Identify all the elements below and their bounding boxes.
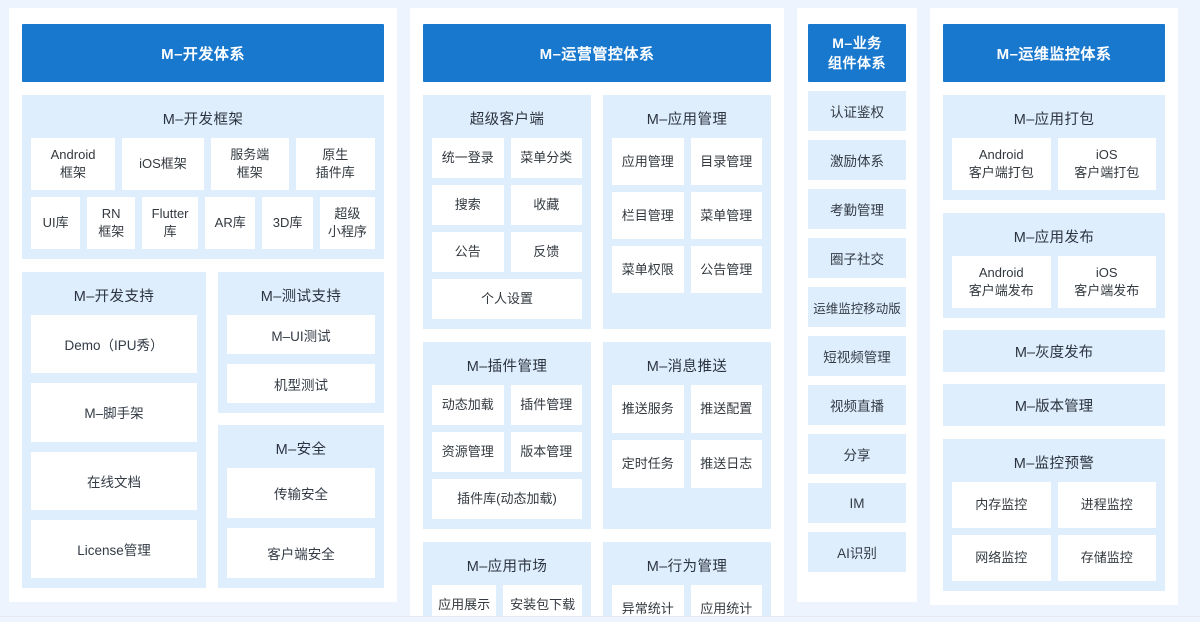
split-ops-row-2: M–插件管理 动态加载 插件管理 资源管理 版本管理 插件库(动态加载) M–消… (423, 342, 771, 529)
tile-menu-permission[interactable]: 菜单权限 (612, 246, 684, 293)
tile-row-super-client-2: 搜索 收藏 (432, 185, 582, 225)
split-ops-row-3: M–应用市场 应用展示 安装包下载 应用管理 应用发布 安装包版本管理 M–行为… (423, 542, 771, 622)
tile-row-framework-2: UI库 RN 框架 Flutter 库 AR库 3D库 超级 小程序 (31, 197, 375, 249)
group-title-dev-framework: M–开发框架 (31, 104, 375, 138)
tile-ios-release[interactable]: iOS 客户端发布 (1058, 256, 1157, 308)
split-support: M–开发支持 Demo（IPU秀） M–脚手架 在线文档 License管理 M… (22, 272, 384, 588)
biz-item-auth[interactable]: 认证鉴权 (808, 91, 906, 131)
group-title-monitor-alert: M–监控预警 (952, 448, 1156, 482)
group-message-push: M–消息推送 推送服务 推送配置 定时任务 推送日志 (603, 342, 771, 529)
tile-super-miniprogram[interactable]: 超级 小程序 (320, 197, 375, 249)
tile-ui-test[interactable]: M–UI测试 (227, 315, 375, 354)
tile-license-mgmt[interactable]: License管理 (31, 520, 197, 578)
column-biz-components: M–业务 组件体系 认证鉴权 激励体系 考勤管理 圈子社交 运维监控移动版 短视… (797, 8, 917, 602)
tile-device-test[interactable]: 机型测试 (227, 364, 375, 403)
tile-storage-monitor[interactable]: 存储监控 (1058, 535, 1157, 581)
group-app-market: M–应用市场 应用展示 安装包下载 应用管理 应用发布 安装包版本管理 (423, 542, 591, 622)
group-title-security: M–安全 (227, 434, 375, 468)
tile-row-app-release: Android 客户端发布 iOS 客户端发布 (952, 256, 1156, 308)
group-app-management: M–应用管理 应用管理 目录管理 栏目管理 菜单管理 菜单权限 公告管理 (603, 95, 771, 329)
column-ops-system: M–运营管控体系 超级客户端 统一登录 菜单分类 搜索 收藏 公告 反馈 个人设… (410, 8, 784, 622)
column-header-dev-system[interactable]: M–开发体系 (22, 24, 384, 82)
tile-row-app-mgmt-3: 菜单权限 公告管理 (612, 246, 762, 293)
tile-row-plugin-1: 动态加载 插件管理 (432, 385, 582, 425)
tile-row-alert-2: 网络监控 存储监控 (952, 535, 1156, 581)
tile-feedback[interactable]: 反馈 (511, 232, 583, 272)
tile-scheduled-task[interactable]: 定时任务 (612, 440, 684, 488)
column-monitor-system: M–运维监控体系 M–应用打包 Android 客户端打包 iOS 客户端打包 … (930, 8, 1178, 605)
tile-ar-lib[interactable]: AR库 (205, 197, 255, 249)
tile-network-monitor[interactable]: 网络监控 (952, 535, 1051, 581)
group-title-behavior-management: M–行为管理 (612, 551, 762, 585)
stack-test-security: M–测试支持 M–UI测试 机型测试 M–安全 传输安全 客户端安全 (218, 272, 384, 588)
column-header-ops-system[interactable]: M–运营管控体系 (423, 24, 771, 82)
group-version-management[interactable]: M–版本管理 (943, 384, 1165, 426)
biz-item-social-circle[interactable]: 圈子社交 (808, 238, 906, 278)
tile-scaffold[interactable]: M–脚手架 (31, 383, 197, 441)
tile-demo-ipu[interactable]: Demo（IPU秀） (31, 315, 197, 373)
tile-push-config[interactable]: 推送配置 (691, 385, 763, 433)
group-title-app-release: M–应用发布 (952, 222, 1156, 256)
biz-item-live-video[interactable]: 视频直播 (808, 385, 906, 425)
tile-ios-framework[interactable]: iOS框架 (122, 138, 204, 190)
tile-online-docs[interactable]: 在线文档 (31, 452, 197, 510)
group-title-app-market: M–应用市场 (432, 551, 582, 585)
tile-row-push-1: 推送服务 推送配置 (612, 385, 762, 433)
tile-search[interactable]: 搜索 (432, 185, 504, 225)
tile-favorites[interactable]: 收藏 (511, 185, 583, 225)
tile-push-service[interactable]: 推送服务 (612, 385, 684, 433)
tile-ios-package[interactable]: iOS 客户端打包 (1058, 138, 1157, 190)
group-title-message-push: M–消息推送 (612, 351, 762, 385)
tile-column-manage[interactable]: 栏目管理 (612, 192, 684, 239)
tile-rn-framework[interactable]: RN 框架 (87, 197, 135, 249)
tile-row-plugin-3: 插件库(动态加载) (432, 479, 582, 519)
column-dev-system: M–开发体系 M–开发框架 Android 框架 iOS框架 服务端 框架 原生… (9, 8, 397, 602)
tile-app-manage[interactable]: 应用管理 (612, 138, 684, 185)
group-dev-framework: M–开发框架 Android 框架 iOS框架 服务端 框架 原生 插件库 UI… (22, 95, 384, 259)
tile-native-plugin-lib[interactable]: 原生 插件库 (296, 138, 375, 190)
tile-announcement-manage[interactable]: 公告管理 (691, 246, 763, 293)
column-header-biz-components[interactable]: M–业务 组件体系 (808, 24, 906, 82)
tile-row-super-client-3: 公告 反馈 (432, 232, 582, 272)
group-title-test-support: M–测试支持 (227, 281, 375, 315)
tile-menu-manage[interactable]: 菜单管理 (691, 192, 763, 239)
group-dev-support: M–开发支持 Demo（IPU秀） M–脚手架 在线文档 License管理 (22, 272, 206, 588)
biz-item-attendance[interactable]: 考勤管理 (808, 189, 906, 229)
group-test-support: M–测试支持 M–UI测试 机型测试 (218, 272, 384, 413)
tile-android-package[interactable]: Android 客户端打包 (952, 138, 1051, 190)
tile-row-plugin-2: 资源管理 版本管理 (432, 432, 582, 472)
split-ops-row-1: 超级客户端 统一登录 菜单分类 搜索 收藏 公告 反馈 个人设置 M– (423, 95, 771, 329)
group-plugin-management: M–插件管理 动态加载 插件管理 资源管理 版本管理 插件库(动态加载) (423, 342, 591, 529)
tile-resource-manage[interactable]: 资源管理 (432, 432, 504, 472)
group-security: M–安全 传输安全 客户端安全 (218, 425, 384, 588)
group-title-app-management: M–应用管理 (612, 104, 762, 138)
tile-row-app-mgmt-1: 应用管理 目录管理 (612, 138, 762, 185)
tile-plugin-manage[interactable]: 插件管理 (511, 385, 583, 425)
bottom-divider (0, 616, 1200, 622)
column-header-biz-line2: 组件体系 (828, 53, 886, 73)
tile-row-alert-1: 内存监控 进程监控 (952, 482, 1156, 528)
tile-transport-security[interactable]: 传输安全 (227, 468, 375, 518)
tile-personal-settings[interactable]: 个人设置 (432, 279, 582, 319)
column-header-biz-line1: M–业务 (832, 33, 881, 53)
tile-process-monitor[interactable]: 进程监控 (1058, 482, 1157, 528)
tile-push-log[interactable]: 推送日志 (691, 440, 763, 488)
group-behavior-management: M–行为管理 异常统计 应用统计 用户统计 业务统计 (603, 542, 771, 622)
tile-row-push-2: 定时任务 推送日志 (612, 440, 762, 488)
tile-row-super-client-4: 个人设置 (432, 279, 582, 319)
tile-row-super-client-1: 统一登录 菜单分类 (432, 138, 582, 178)
tile-client-security[interactable]: 客户端安全 (227, 528, 375, 578)
tile-plugin-library[interactable]: 插件库(动态加载) (432, 479, 582, 519)
tile-row-app-package: Android 客户端打包 iOS 客户端打包 (952, 138, 1156, 190)
group-title-super-client: 超级客户端 (432, 104, 582, 138)
tile-unified-login[interactable]: 统一登录 (432, 138, 504, 178)
group-monitor-alert: M–监控预警 内存监控 进程监控 网络监控 存储监控 (943, 439, 1165, 591)
tile-android-release[interactable]: Android 客户端发布 (952, 256, 1051, 308)
tile-android-framework[interactable]: Android 框架 (31, 138, 115, 190)
tile-catalog-manage[interactable]: 目录管理 (691, 138, 763, 185)
tile-announcement[interactable]: 公告 (432, 232, 504, 272)
tile-server-framework[interactable]: 服务端 框架 (211, 138, 289, 190)
group-title-app-package: M–应用打包 (952, 104, 1156, 138)
biz-item-incentive[interactable]: 激励体系 (808, 140, 906, 180)
group-title-plugin-management: M–插件管理 (432, 351, 582, 385)
tile-row-app-mgmt-2: 栏目管理 菜单管理 (612, 192, 762, 239)
group-super-client: 超级客户端 统一登录 菜单分类 搜索 收藏 公告 反馈 个人设置 (423, 95, 591, 329)
column-header-monitor-system[interactable]: M–运维监控体系 (943, 24, 1165, 82)
tile-row-framework-1: Android 框架 iOS框架 服务端 框架 原生 插件库 (31, 138, 375, 190)
architecture-diagram: M–开发体系 M–开发框架 Android 框架 iOS框架 服务端 框架 原生… (0, 0, 1200, 622)
group-gray-release[interactable]: M–灰度发布 (943, 330, 1165, 372)
group-app-release: M–应用发布 Android 客户端发布 iOS 客户端发布 (943, 213, 1165, 318)
tile-3d-lib[interactable]: 3D库 (262, 197, 312, 249)
tile-version-manage[interactable]: 版本管理 (511, 432, 583, 472)
biz-item-ai-recognition[interactable]: AI识别 (808, 532, 906, 572)
tile-flutter-lib[interactable]: Flutter 库 (142, 197, 198, 249)
biz-item-ops-mobile[interactable]: 运维监控移动版 (808, 287, 906, 327)
tile-memory-monitor[interactable]: 内存监控 (952, 482, 1051, 528)
group-title-dev-support: M–开发支持 (31, 281, 197, 315)
biz-item-im[interactable]: IM (808, 483, 906, 523)
tile-ui-lib[interactable]: UI库 (31, 197, 80, 249)
biz-item-short-video[interactable]: 短视频管理 (808, 336, 906, 376)
biz-item-share[interactable]: 分享 (808, 434, 906, 474)
tile-menu-category[interactable]: 菜单分类 (511, 138, 583, 178)
group-app-package: M–应用打包 Android 客户端打包 iOS 客户端打包 (943, 95, 1165, 200)
tile-dynamic-load[interactable]: 动态加载 (432, 385, 504, 425)
